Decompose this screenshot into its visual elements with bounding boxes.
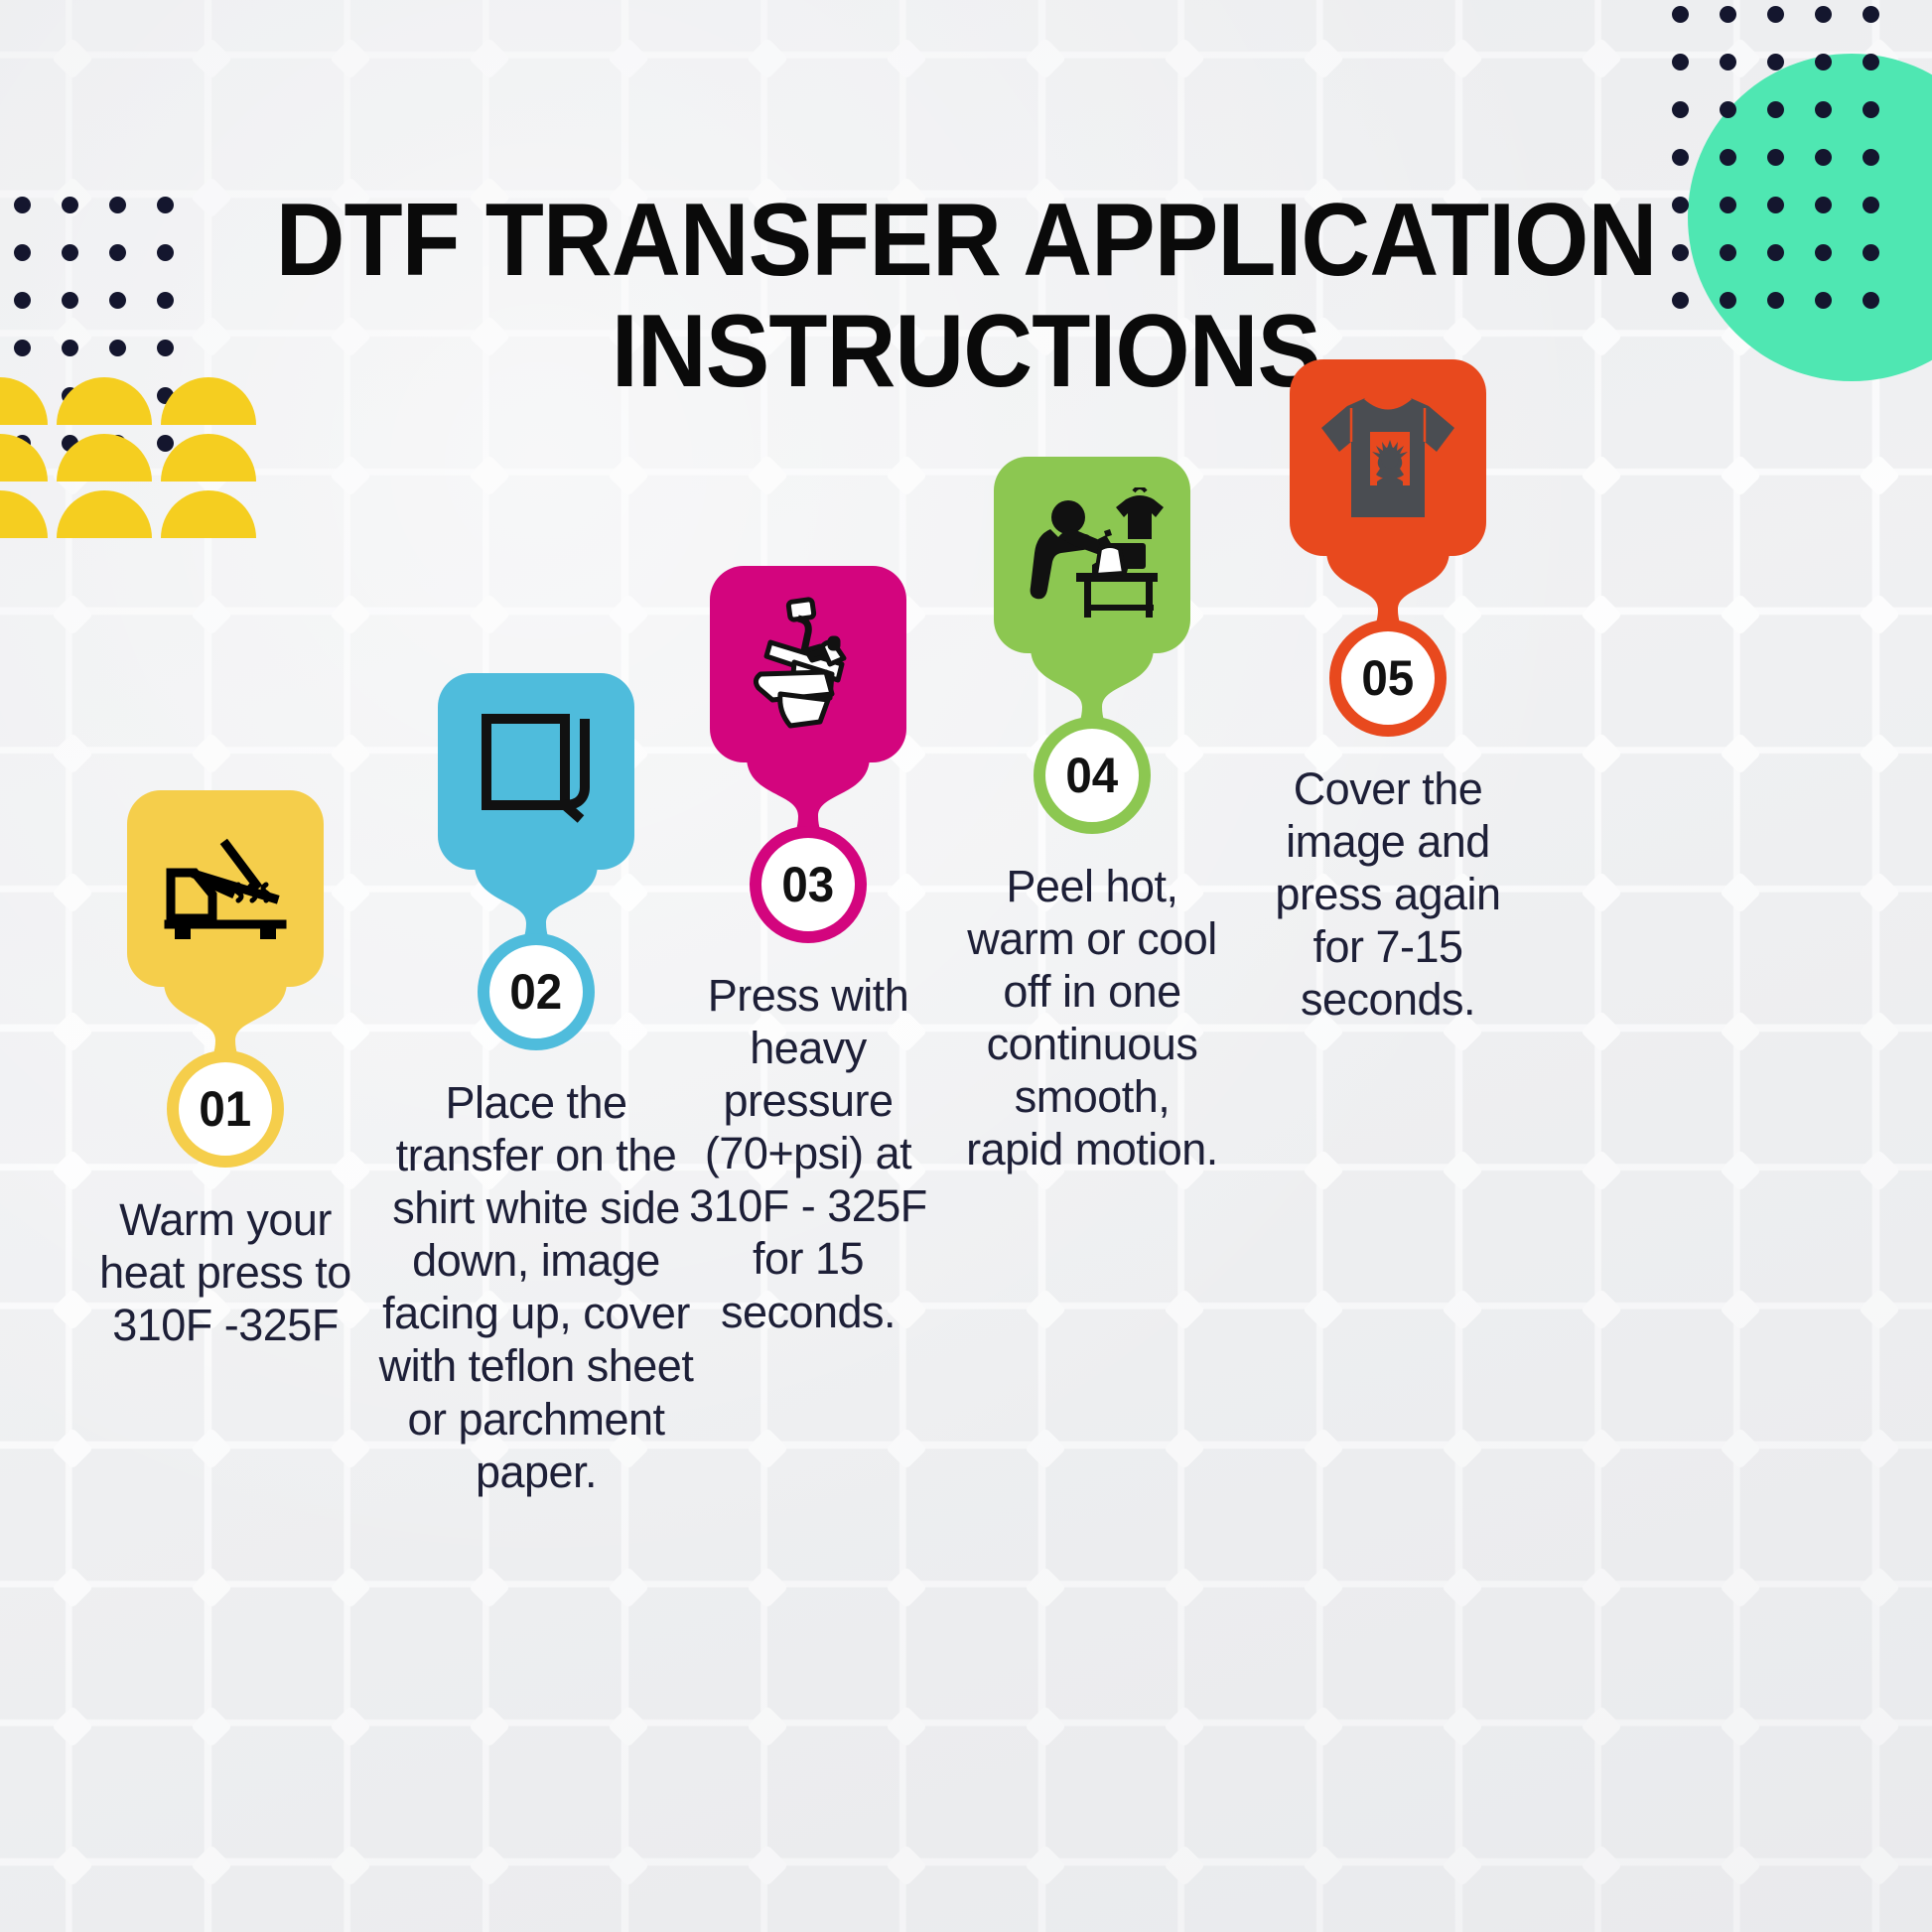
step-03: 03 Press with heavy pressure (70+psi) at… xyxy=(673,566,943,1338)
step-02-number-badge: 02 xyxy=(478,933,595,1050)
transfer-sheet-icon xyxy=(478,710,595,833)
step-03-number: 03 xyxy=(782,856,835,913)
step-02: 02 Place the transfer on the shirt white… xyxy=(377,673,695,1498)
step-01-number: 01 xyxy=(200,1080,252,1138)
heat-press-machine-icon xyxy=(735,595,882,734)
heat-press-open-icon xyxy=(161,837,290,940)
step-05-number: 05 xyxy=(1362,649,1415,707)
step-03-icon-card xyxy=(710,566,906,762)
step-04: 04 Peel hot, warm or cool off in one con… xyxy=(963,457,1221,1176)
step-05-number-badge: 05 xyxy=(1329,620,1447,737)
step-03-number-badge: 03 xyxy=(750,826,867,943)
step-04-icon-card xyxy=(994,457,1190,653)
step-01-caption: Warm your heat press to 310F -325F xyxy=(83,1193,367,1351)
step-04-number-badge: 04 xyxy=(1034,717,1151,834)
printed-tshirt-icon xyxy=(1315,390,1460,525)
step-02-caption: Place the transfer on the shirt white si… xyxy=(377,1076,695,1498)
step-02-number: 02 xyxy=(510,963,563,1021)
step-01-icon-card xyxy=(127,790,324,987)
step-02-icon-card xyxy=(438,673,634,870)
step-05: 05 Cover the image and press again for 7… xyxy=(1259,359,1517,1026)
step-01-number-badge: 01 xyxy=(167,1050,284,1168)
step-01: 01 Warm your heat press to 310F -325F xyxy=(83,790,367,1351)
step-05-icon-card xyxy=(1290,359,1486,556)
step-05-caption: Cover the image and press again for 7-15… xyxy=(1259,762,1517,1026)
steps-container: 01 Warm your heat press to 310F -325F xyxy=(0,0,1932,1932)
step-04-caption: Peel hot, warm or cool off in one contin… xyxy=(963,860,1221,1176)
step-04-number: 04 xyxy=(1066,747,1119,804)
worker-pressing-shirt-icon xyxy=(1015,487,1170,622)
step-03-caption: Press with heavy pressure (70+psi) at 31… xyxy=(673,969,943,1338)
